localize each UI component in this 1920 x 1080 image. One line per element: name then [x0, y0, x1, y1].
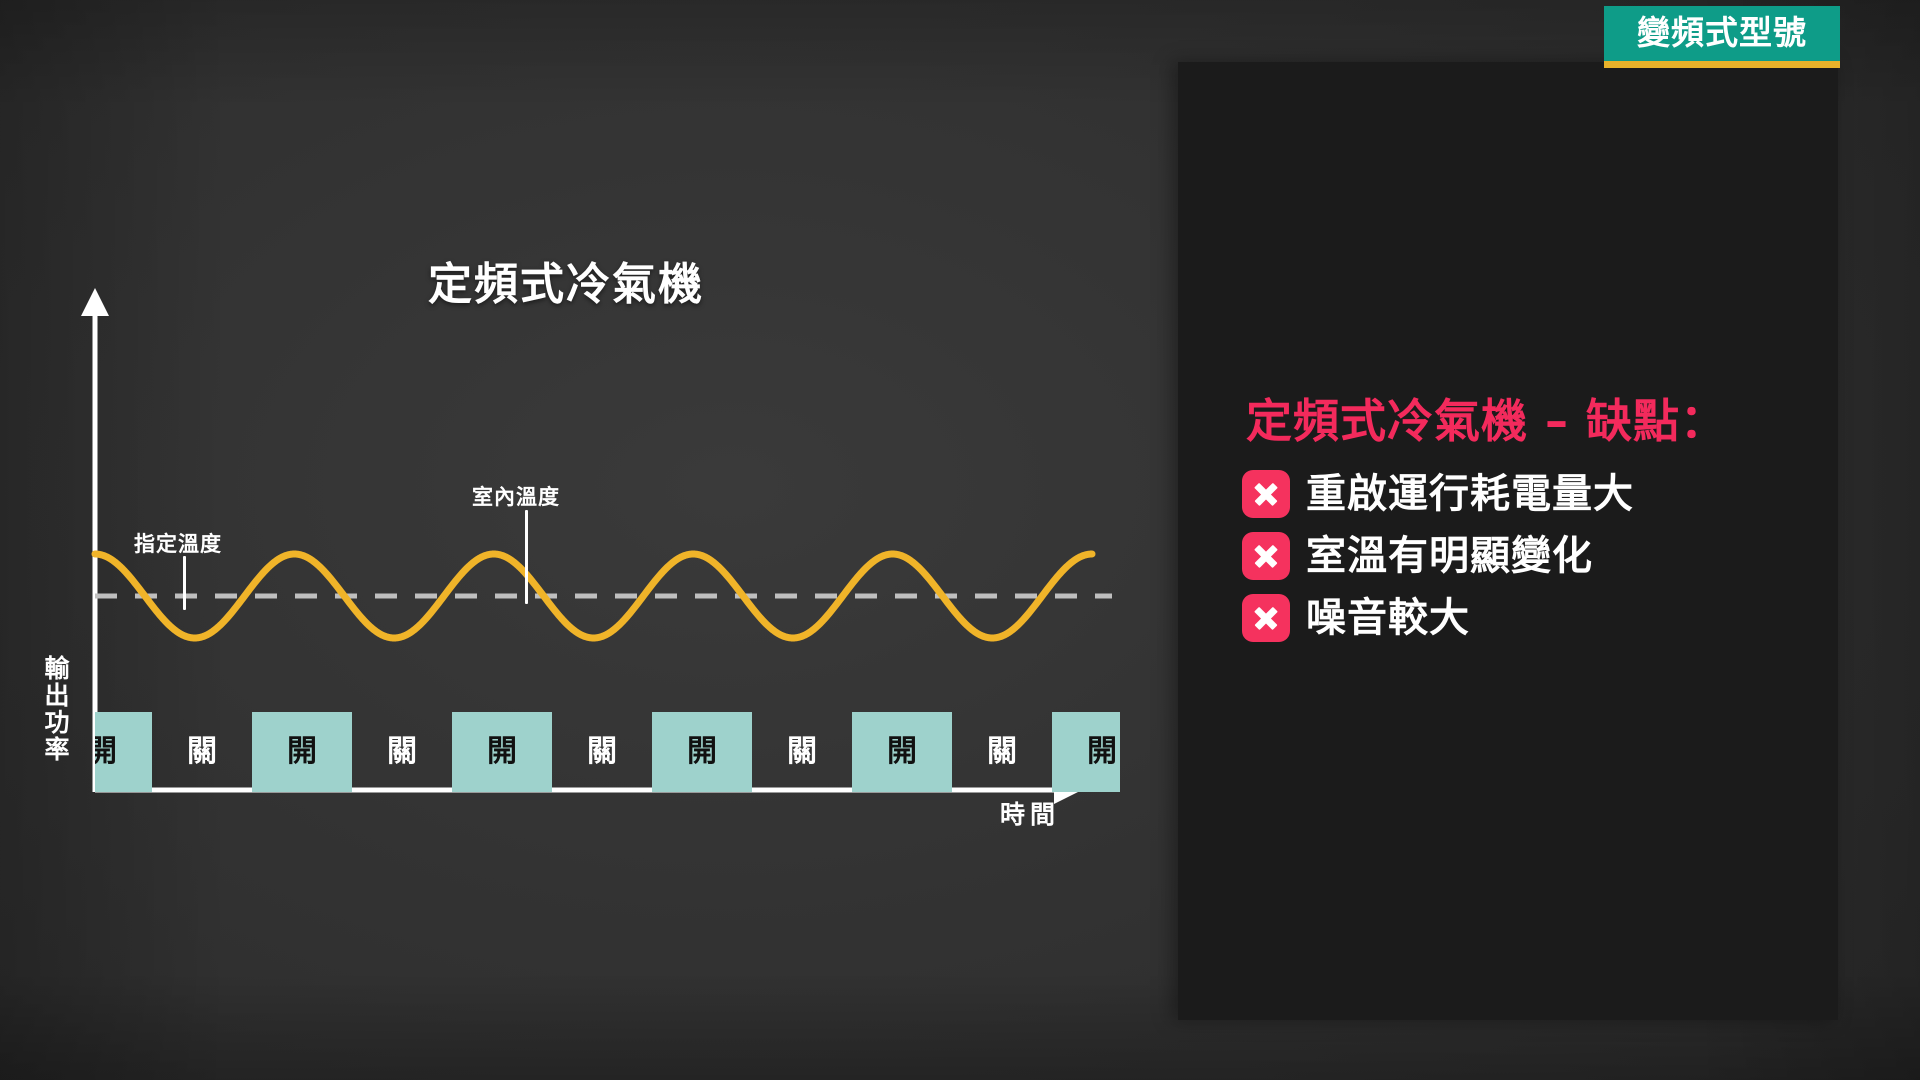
duty-cycle-block-on-5: 開 [452, 712, 552, 792]
y-axis-arrowhead [81, 288, 109, 316]
duty-cycle-block-label: 關 [387, 737, 417, 767]
y-axis-label-char-2: 出 [40, 682, 74, 709]
duty-cycle-block-label: 開 [95, 737, 117, 767]
duty-cycle-block-label: 關 [187, 737, 217, 767]
duty-cycle-block-off-10: 關 [952, 712, 1052, 792]
drawback-item-label: 室溫有明顯變化 [1306, 536, 1593, 576]
annotation-indoor-temperature: 室內溫度 [472, 481, 560, 511]
drawback-item: 重啟運行耗電量大 [1242, 470, 1802, 518]
duty-cycle-blocks: 開關開關開關開關開關開 [95, 712, 1120, 792]
duty-cycle-block-on-11: 開 [1052, 712, 1120, 792]
duty-cycle-block-off-8: 關 [752, 712, 852, 792]
model-badge-label: 變頻式型號 [1604, 6, 1840, 61]
duty-cycle-block-label: 開 [887, 737, 917, 767]
x-mark-icon [1242, 532, 1290, 580]
duty-cycle-block-on-3: 開 [252, 712, 352, 792]
x-mark-icon [1242, 470, 1290, 518]
chart-title: 定頻式冷氣機 [428, 248, 704, 312]
drawbacks-list: 重啟運行耗電量大室溫有明顯變化噪音較大 [1242, 470, 1802, 656]
annotation-set-temperature: 指定溫度 [134, 528, 222, 558]
model-badge: 變頻式型號 [1604, 6, 1840, 68]
duty-cycle-block-off-2: 關 [152, 712, 252, 792]
annotation-set-temperature-leader [183, 556, 186, 610]
y-axis-label-char-3: 功 [40, 709, 74, 736]
annotation-indoor-temperature-leader [525, 510, 528, 604]
duty-cycle-block-label: 開 [687, 737, 717, 767]
duty-cycle-row: 開關開關開關開關開關開 [95, 712, 1120, 792]
drawback-item-label: 重啟運行耗電量大 [1306, 474, 1634, 514]
duty-cycle-block-label: 開 [487, 737, 517, 767]
fixed-speed-ac-chart: 定頻式冷氣機 輸 出 功 率 時間 指定溫度 室內溫度 開關開關開關開關開關開 [0, 0, 1178, 1080]
duty-cycle-block-label: 開 [287, 737, 317, 767]
drawback-item: 噪音較大 [1242, 594, 1802, 642]
x-axis-label: 時間 [1000, 795, 1060, 831]
drawback-item-label: 噪音較大 [1306, 598, 1470, 638]
duty-cycle-block-label: 關 [587, 737, 617, 767]
duty-cycle-block-on-7: 開 [652, 712, 752, 792]
model-badge-underline [1604, 61, 1840, 68]
duty-cycle-block-on-1: 開 [95, 712, 152, 792]
drawback-item: 室溫有明顯變化 [1242, 532, 1802, 580]
duty-cycle-block-off-4: 關 [352, 712, 452, 792]
panel-heading: 定頻式冷氣機 – 缺點： [1246, 385, 1727, 451]
duty-cycle-block-on-9: 開 [852, 712, 952, 792]
duty-cycle-block-off-6: 關 [552, 712, 652, 792]
y-axis-label-char-1: 輸 [40, 655, 74, 682]
duty-cycle-block-label: 開 [1087, 737, 1117, 767]
duty-cycle-block-label: 關 [987, 737, 1017, 767]
indoor-temperature-curve [95, 554, 1092, 638]
x-mark-icon [1242, 594, 1290, 642]
drawbacks-panel: 定頻式冷氣機 – 缺點： 重啟運行耗電量大室溫有明顯變化噪音較大 [1178, 62, 1838, 1020]
y-axis-label-char-4: 率 [40, 736, 74, 763]
duty-cycle-block-label: 關 [787, 737, 817, 767]
y-axis-label: 輸 出 功 率 [40, 655, 74, 763]
slide-canvas: 定頻式冷氣機 輸 出 功 率 時間 指定溫度 室內溫度 開關開關開關開關開關開 [0, 0, 1920, 1080]
